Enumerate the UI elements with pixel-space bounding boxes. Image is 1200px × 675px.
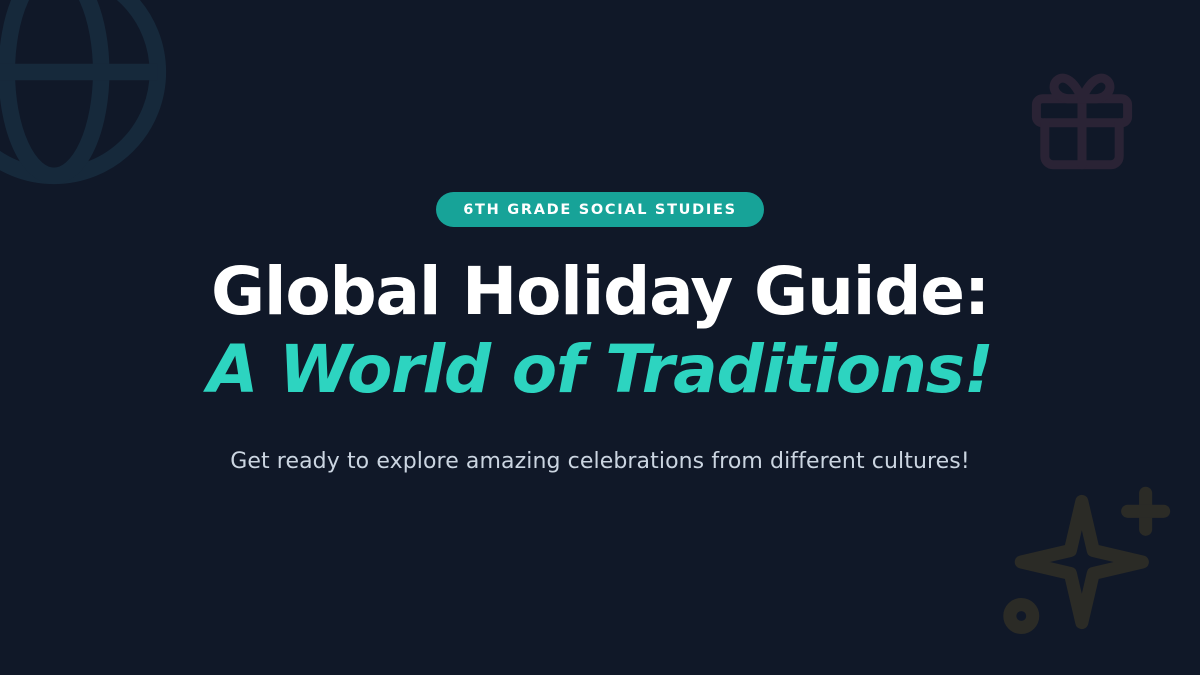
subtitle-text: Get ready to explore amazing celebration… xyxy=(230,449,970,474)
page-title: Global Holiday Guide: A World of Traditi… xyxy=(207,259,992,403)
course-badge: 6TH GRADE SOCIAL STUDIES xyxy=(436,192,763,227)
title-line-secondary: A World of Traditions! xyxy=(207,337,992,403)
title-slide: 6TH GRADE SOCIAL STUDIES Global Holiday … xyxy=(0,0,1200,675)
slide-content: 6TH GRADE SOCIAL STUDIES Global Holiday … xyxy=(0,0,1200,675)
title-line-primary: Global Holiday Guide: xyxy=(207,259,992,325)
